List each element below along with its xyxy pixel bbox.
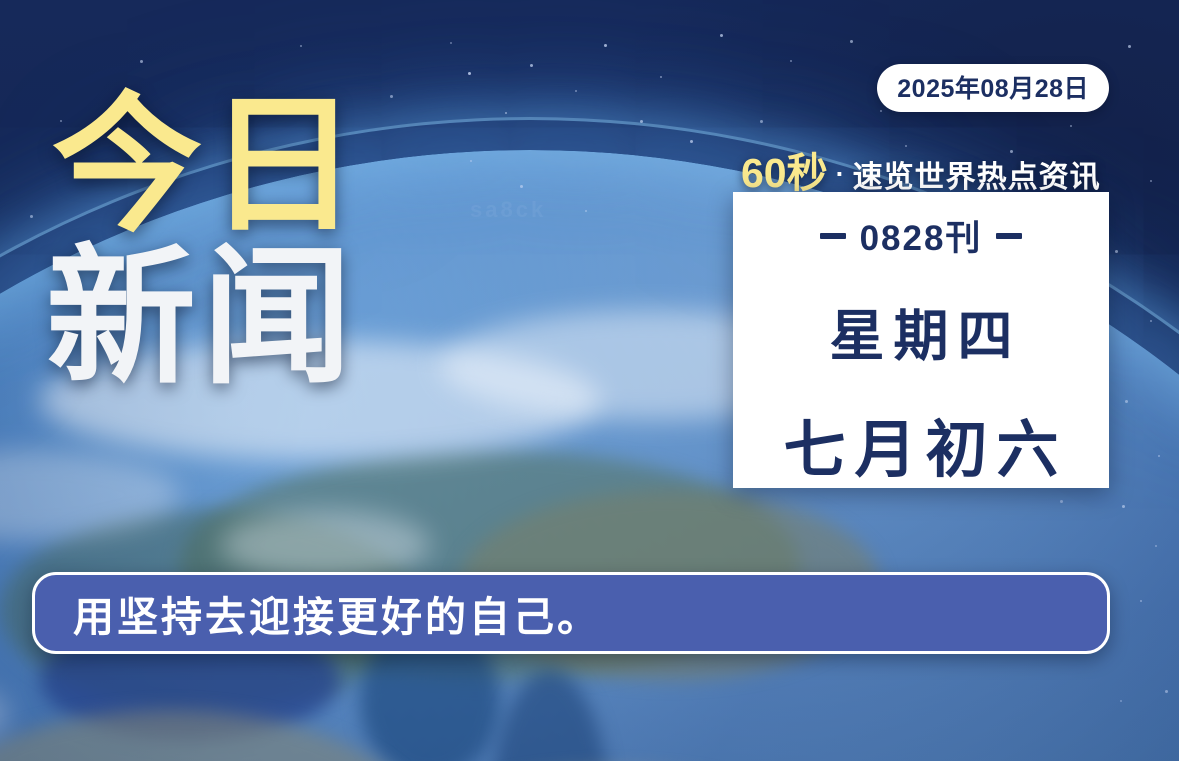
issue-number: 0828刊: [860, 210, 983, 261]
dash-left-icon: [820, 233, 846, 239]
issue-info-card: 0828刊 星期四 七月初六: [733, 192, 1109, 488]
quote-text: 用坚持去迎接更好的自己。: [35, 583, 601, 643]
headline-line-1: 今日: [52, 96, 522, 234]
tagline-text: 速览世界热点资讯: [853, 152, 1101, 196]
tagline-separator-icon: ·: [836, 159, 845, 190]
lunar-date-label: 七月初六: [774, 399, 1067, 489]
dash-right-icon: [996, 233, 1022, 239]
date-badge: 2025年08月28日: [877, 64, 1109, 112]
tagline: 60秒 · 速览世界热点资讯: [741, 139, 1101, 199]
weekday-label: 星期四: [820, 291, 1021, 371]
page-title: 今日 新闻: [52, 96, 522, 386]
headline-line-2: 新闻: [46, 248, 522, 386]
issue-line: 0828刊: [820, 210, 1023, 261]
quote-banner: 用坚持去迎接更好的自己。: [32, 572, 1110, 654]
news-poster: sa8ck 今日 新闻 2025年08月28日 60秒 · 速览世界热点资讯 0…: [0, 0, 1179, 761]
tagline-seconds: 60秒: [741, 139, 828, 199]
